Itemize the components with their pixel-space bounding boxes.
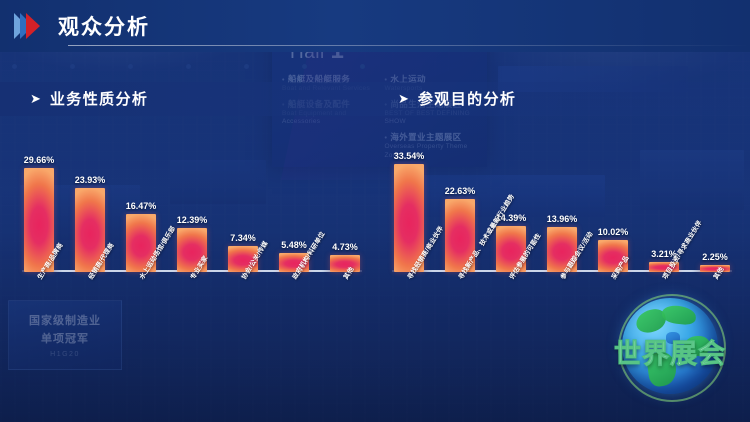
section-heading-visit-purpose: ➤ 参观目的分析 <box>398 88 516 109</box>
chart-x-axis-labels: 生产商/品牌商经销商/代理商水上运动场馆/俱乐部专业买家协会/公关/传媒政府机构… <box>22 272 362 342</box>
bar-value-label: 7.34% <box>230 233 256 243</box>
decorative-dot-row <box>0 54 750 78</box>
dot-icon <box>70 64 75 69</box>
dot-icon <box>12 64 17 69</box>
chart-bar-group: 4.73% <box>328 132 362 272</box>
chevron-right-icon <box>26 13 40 39</box>
bar-value-label: 33.54% <box>394 151 425 161</box>
dot-icon <box>186 64 191 69</box>
chart-bar-group: 10.02% <box>596 132 630 272</box>
section-label: 参观目的分析 <box>418 88 516 109</box>
logo-text: 世界展会 <box>604 332 736 371</box>
world-expo-logo: 世界展会 <box>604 296 736 406</box>
chart-bar-group: 2.25% <box>698 132 732 272</box>
bar-value-label: 23.93% <box>75 175 106 185</box>
bar-value-label: 13.96% <box>547 214 578 224</box>
section-label: 业务性质分析 <box>50 88 148 109</box>
dot-icon <box>302 64 307 69</box>
bar-value-label: 12.39% <box>177 215 208 225</box>
bar-value-label: 10.02% <box>598 227 629 237</box>
chart-bar-group: 12.39% <box>175 132 209 272</box>
section-heading-business-nature: ➤ 业务性质分析 <box>30 88 148 109</box>
bar-value-label: 2.25% <box>702 252 728 262</box>
chevron-logo <box>14 13 40 39</box>
chart-business-nature: 29.66%23.93%16.47%12.39%7.34%5.48%4.73% … <box>22 132 362 292</box>
bar-value-label: 16.47% <box>126 201 157 211</box>
dot-icon <box>360 64 365 69</box>
slide-header: 观众分析 <box>0 0 750 52</box>
chart-visit-purpose: 33.54%22.63%14.39%13.96%10.02%3.21%2.25%… <box>392 132 732 292</box>
bar-value-label: 5.48% <box>281 240 307 250</box>
bar-value-label: 22.63% <box>445 186 476 196</box>
bar-value-label: 4.73% <box>332 242 358 252</box>
slide-canvas: Hall 1 •船艇及船艇服务 Boat and Relevant Servic… <box>0 0 750 422</box>
dot-icon <box>244 64 249 69</box>
arrow-right-icon: ➤ <box>398 92 409 105</box>
dot-icon <box>128 64 133 69</box>
arrow-right-icon: ➤ <box>30 92 41 105</box>
header-divider <box>68 45 750 46</box>
page-title: 观众分析 <box>58 11 150 41</box>
bar-value-label: 29.66% <box>24 155 55 165</box>
